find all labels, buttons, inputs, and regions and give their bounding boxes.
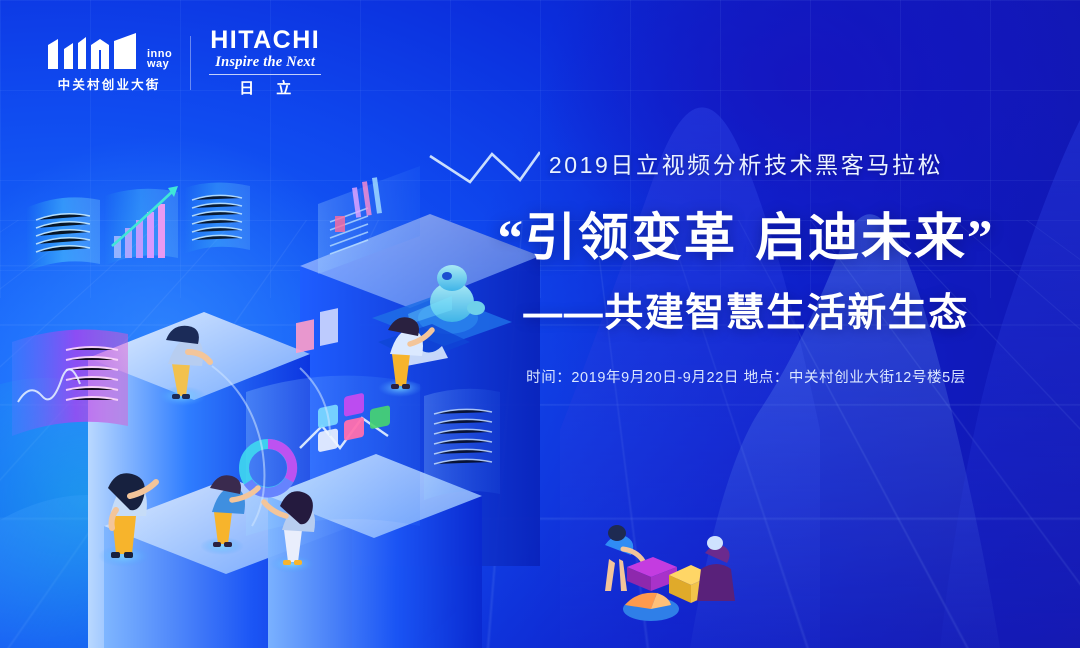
hologram-magenta-screen (12, 330, 128, 437)
event-tagline: ——共建智慧生活新生态 (486, 282, 1006, 338)
main-title-part1: 引领变革 (525, 209, 737, 266)
mini-figure-right (697, 536, 735, 601)
headline-block: 2019日立视频分析技术黑客马拉松 “引领变革启迪未来” ——共建智慧生活新生态… (486, 146, 1006, 387)
hitachi-wordmark: HITACHI (210, 28, 320, 53)
innoway-mark: inno way (46, 33, 172, 71)
hitachi-chinese-label: 日 立 (230, 77, 300, 98)
innoway-icon (46, 33, 142, 71)
isometric-illustration (0, 96, 540, 648)
event-subtitle: 2019日立视频分析技术黑客马拉松 (486, 146, 1006, 180)
hologram-bar-chart-screens (26, 182, 250, 272)
logo-divider (190, 36, 191, 90)
event-datetime-location: 时间：2019年9月20日-9月22日 地点：中关村创业大街12号楼5层 (486, 366, 1006, 387)
event-main-title: “引领变革启迪未来” (486, 196, 1006, 270)
logo-lockup: inno way 中关村创业大街 HITACHI Inspire the Nex… (46, 28, 321, 98)
hitachi-tagline: Inspire the Next (215, 54, 315, 71)
innoway-chinese-label: 中关村创业大街 (58, 74, 161, 93)
innoway-wordmark: inno way (147, 49, 172, 71)
main-title-part2: 启迪未来 (755, 209, 967, 266)
poster-canvas: inno way 中关村创业大街 HITACHI Inspire the Nex… (0, 0, 1080, 648)
bottom-mini-scene (565, 505, 755, 625)
hitachi-logo[interactable]: HITACHI Inspire the Next 日 立 (209, 28, 321, 98)
innoway-word-line2: way (147, 58, 169, 70)
quote-close: ” (967, 211, 995, 267)
innoway-logo[interactable]: inno way 中关村创业大街 (46, 33, 172, 93)
mini-pie-chart (623, 593, 679, 621)
hitachi-rule (209, 74, 321, 75)
quote-open: “ (497, 211, 525, 267)
